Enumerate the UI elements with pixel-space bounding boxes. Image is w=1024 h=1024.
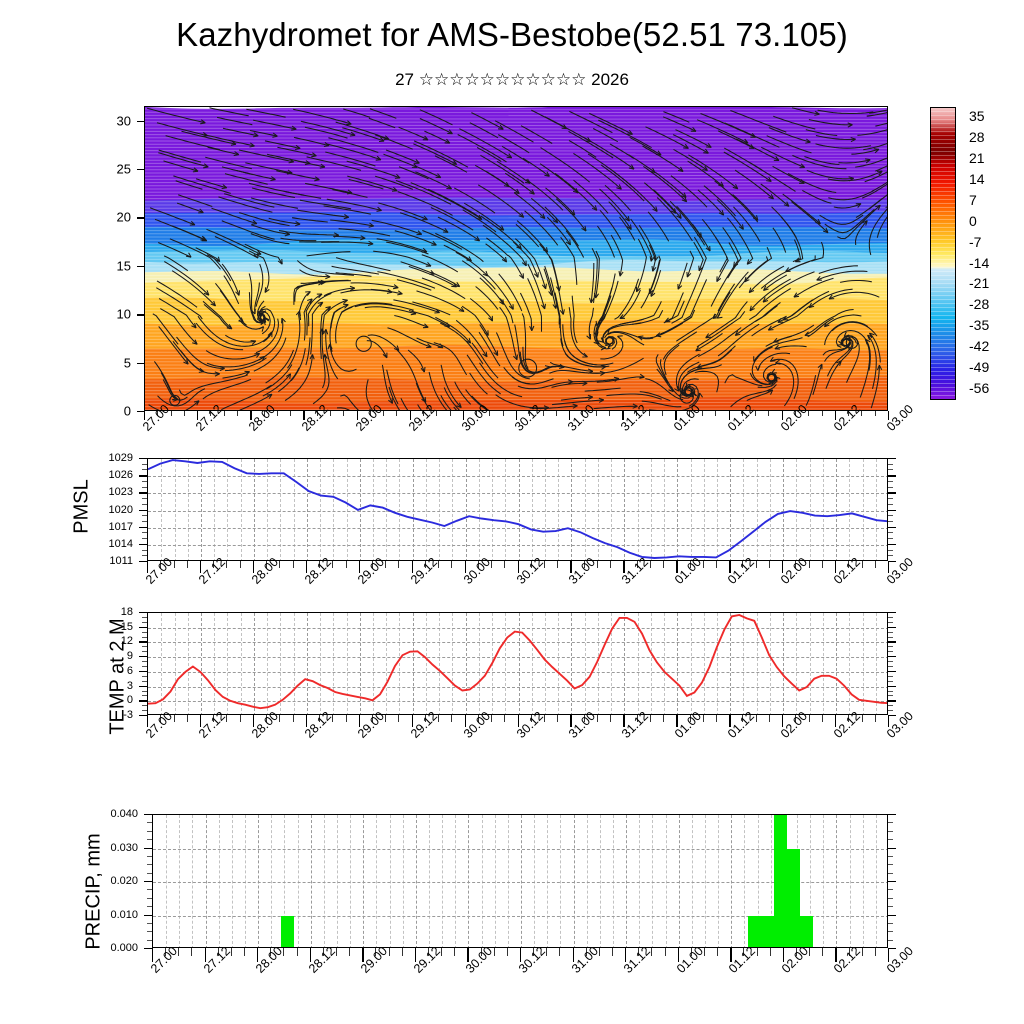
- y-tick-minor: [888, 898, 893, 899]
- y-tick-minor: [147, 856, 152, 857]
- y-tick-minor: [147, 931, 152, 932]
- y-tick-minor: [147, 923, 152, 924]
- x-tick-minor: [402, 948, 403, 956]
- y-axis-label: 0.010: [100, 909, 138, 921]
- y-tick-minor: [888, 864, 893, 865]
- y-tick: [144, 915, 152, 916]
- precip-bar[interactable]: [281, 916, 294, 949]
- y-tick-minor: [147, 864, 152, 865]
- y-axis-label: 0.030: [100, 842, 138, 854]
- x-tick-minor: [244, 948, 245, 956]
- y-tick-minor: [147, 839, 152, 840]
- y-tick-minor: [888, 856, 893, 857]
- precip-plot-area[interactable]: [152, 814, 888, 948]
- x-tick-minor: [507, 948, 508, 956]
- x-tick-minor: [559, 948, 560, 956]
- y-tick-minor: [147, 906, 152, 907]
- precip-bar[interactable]: [787, 849, 800, 949]
- x-tick-minor: [349, 948, 350, 956]
- y-tick-minor: [888, 923, 893, 924]
- y-tick-minor: [147, 873, 152, 874]
- y-tick-minor: [888, 906, 893, 907]
- y-tick-right: [888, 814, 896, 815]
- precip-bar[interactable]: [774, 815, 787, 948]
- x-tick-minor: [822, 948, 823, 956]
- x-tick-minor: [612, 948, 613, 956]
- y-tick-right: [888, 915, 896, 916]
- y-tick-minor: [147, 822, 152, 823]
- y-tick-minor: [888, 873, 893, 874]
- y-tick-minor: [147, 940, 152, 941]
- precip-bar[interactable]: [748, 916, 761, 949]
- precip-panel: PRECIP, mm 0.0400.0300.0200.0100.000 27.…: [0, 0, 1024, 1024]
- y-tick-minor: [888, 931, 893, 932]
- y-tick-minor: [888, 831, 893, 832]
- x-tick-minor: [297, 948, 298, 956]
- y-tick-minor: [888, 839, 893, 840]
- x-tick-minor: [191, 948, 192, 956]
- y-tick-minor: [888, 822, 893, 823]
- precip-bar[interactable]: [800, 916, 813, 949]
- y-axis-label: 0.000: [100, 942, 138, 954]
- y-tick-minor: [888, 889, 893, 890]
- x-tick-minor: [875, 948, 876, 956]
- y-tick: [144, 848, 152, 849]
- x-tick-minor: [717, 948, 718, 956]
- y-tick-minor: [147, 889, 152, 890]
- y-tick-minor: [147, 898, 152, 899]
- y-tick: [144, 881, 152, 882]
- y-tick-right: [888, 848, 896, 849]
- forecast-chart-page: Kazhydromet for AMS-Bestobe(52.51 73.105…: [0, 0, 1024, 1024]
- y-tick: [144, 948, 152, 949]
- y-axis-label: 0.020: [100, 875, 138, 887]
- y-tick-minor: [888, 940, 893, 941]
- y-tick: [144, 814, 152, 815]
- y-axis-label: 0.040: [100, 808, 138, 820]
- x-tick-minor: [770, 948, 771, 956]
- y-tick-minor: [147, 831, 152, 832]
- precip-bar[interactable]: [761, 916, 774, 949]
- x-tick-minor: [665, 948, 666, 956]
- x-tick-minor: [454, 948, 455, 956]
- y-tick-right: [888, 881, 896, 882]
